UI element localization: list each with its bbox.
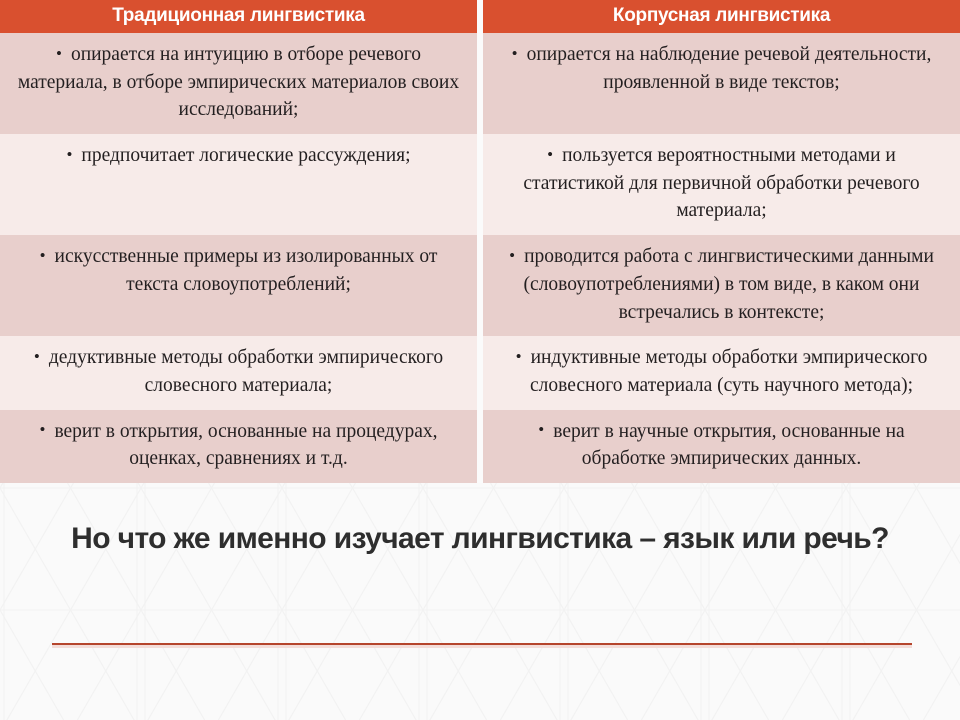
cell-traditional-2: •предпочитает логические рассуждения; — [0, 134, 477, 235]
bullet-icon: • — [39, 420, 54, 439]
bullet-icon: • — [66, 145, 81, 164]
cell-traditional-4: •дедуктивные методы обработки эмпирическ… — [0, 336, 477, 409]
cell-corpus-3: •проводится работа с лингвистическими да… — [483, 235, 960, 336]
table-row: •опирается на интуицию в отборе речевого… — [0, 33, 960, 134]
bullet-icon: • — [56, 44, 71, 63]
cell-text: опирается на интуицию в отборе речевого … — [18, 44, 459, 120]
table-header-row: Традиционная лингвистика Корпусная лингв… — [0, 0, 960, 33]
table-row: •дедуктивные методы обработки эмпирическ… — [0, 336, 960, 409]
cell-corpus-2: •пользуется вероятностными методами и ст… — [483, 134, 960, 235]
bullet-icon: • — [516, 347, 531, 366]
bullet-icon: • — [512, 44, 527, 63]
cell-text: дедуктивные методы обработки эмпирическо… — [49, 347, 443, 396]
bullet-icon: • — [547, 145, 562, 164]
bullet-icon: • — [538, 420, 553, 439]
bullet-icon: • — [509, 246, 524, 265]
cell-text: проводится работа с лингвистическими дан… — [524, 246, 934, 322]
cell-corpus-1: •опирается на наблюдение речевой деятель… — [483, 33, 960, 134]
column-header-traditional: Традиционная лингвистика — [0, 0, 477, 33]
cell-text: пользуется вероятностными методами и ста… — [523, 145, 919, 221]
cell-traditional-3: •искусственные примеры из изолированных … — [0, 235, 477, 336]
cell-text: предпочитает логические рассуждения; — [81, 145, 410, 166]
table-row: •искусственные примеры из изолированных … — [0, 235, 960, 336]
table-row: •предпочитает логические рассуждения; •п… — [0, 134, 960, 235]
table-body: •опирается на интуицию в отборе речевого… — [0, 33, 960, 483]
bullet-icon: • — [40, 246, 55, 265]
main-question-heading: Но что же именно изучает лингвистика – я… — [30, 522, 930, 556]
cell-text: искусственные примеры из изолированных о… — [55, 246, 438, 295]
section-divider — [52, 643, 912, 648]
cell-traditional-1: •опирается на интуицию в отборе речевого… — [0, 33, 477, 134]
comparison-table: Традиционная лингвистика Корпусная лингв… — [0, 0, 960, 483]
divider-rule-bottom — [52, 645, 912, 648]
bullet-icon: • — [34, 347, 49, 366]
column-header-corpus: Корпусная лингвистика — [483, 0, 960, 33]
cell-text: опирается на наблюдение речевой деятельн… — [527, 44, 932, 93]
cell-text: индуктивные методы обработки эмпирическо… — [530, 347, 927, 396]
cell-corpus-4: •индуктивные методы обработки эмпирическ… — [483, 336, 960, 409]
lower-section: Но что же именно изучает лингвистика – я… — [0, 460, 960, 720]
